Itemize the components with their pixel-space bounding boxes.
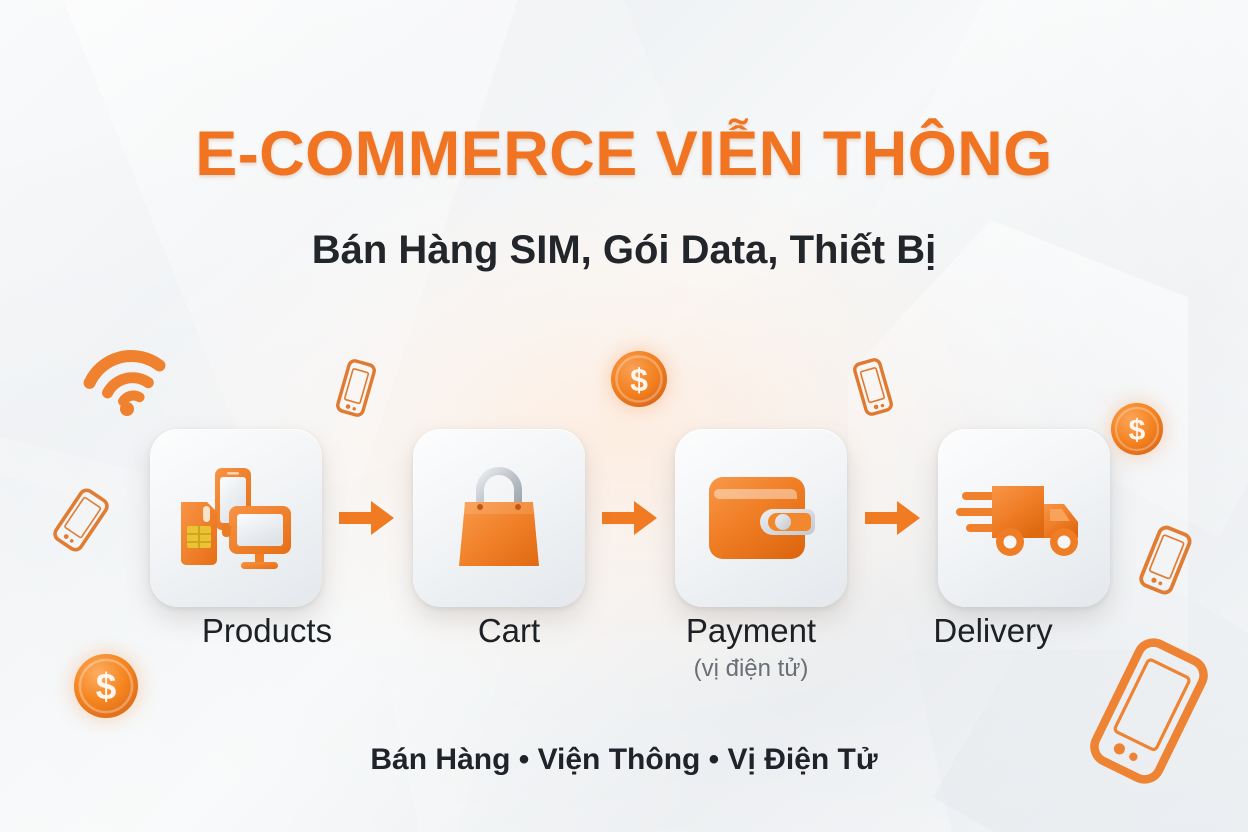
dollar-coin-icon: $ bbox=[608, 348, 670, 410]
svg-text:$: $ bbox=[1129, 414, 1146, 447]
delivery-truck-icon bbox=[960, 476, 1088, 560]
flow-label-cart: Cart bbox=[392, 612, 626, 722]
flow-sublabel-text: (vị điện tử) bbox=[634, 655, 868, 684]
svg-text:$: $ bbox=[96, 666, 117, 707]
flow-card-payment[interactable] bbox=[675, 429, 847, 607]
headline-block: E-COMMERCE VIỄN THÔNG Bán Hàng SIM, Gói … bbox=[0, 120, 1248, 272]
smartphone-outline-icon bbox=[334, 358, 378, 418]
flow-labels: Products Cart Payment (vị điện tử) Deliv… bbox=[150, 612, 1110, 722]
svg-text:$: $ bbox=[630, 362, 648, 398]
arrow-right-icon bbox=[862, 495, 924, 541]
flow-card-cart[interactable] bbox=[413, 429, 585, 607]
smartphone-outline-icon bbox=[1136, 524, 1194, 598]
flow-label-text: Payment bbox=[634, 612, 868, 651]
shopping-bag-icon bbox=[447, 460, 551, 576]
dollar-coin-icon: $ bbox=[70, 650, 142, 722]
smartphone-outline-icon bbox=[851, 357, 895, 417]
page-subtitle: Bán Hàng SIM, Gói Data, Thiết Bị bbox=[0, 228, 1248, 272]
smartphone-outline-icon bbox=[54, 486, 108, 554]
flow-label-text: Cart bbox=[392, 612, 626, 651]
arrow-right-icon bbox=[599, 495, 661, 541]
flow-label-products: Products bbox=[150, 612, 384, 722]
flow-label-text: Delivery bbox=[876, 612, 1110, 651]
poster-canvas: E-COMMERCE VIỄN THÔNG Bán Hàng SIM, Gói … bbox=[0, 0, 1248, 832]
wifi-icon bbox=[78, 330, 174, 416]
arrow-right-icon bbox=[336, 495, 398, 541]
flow-label-payment: Payment (vị điện tử) bbox=[634, 612, 868, 722]
page-title: E-COMMERCE VIỄN THÔNG bbox=[0, 120, 1248, 188]
wallet-icon bbox=[703, 469, 819, 567]
flow-card-products[interactable] bbox=[150, 429, 322, 607]
sim-devices-icon bbox=[175, 462, 297, 574]
dollar-coin-icon: $ bbox=[1108, 400, 1166, 458]
footer-tagline: Bán Hàng • Viện Thông • Vị Điện Tử bbox=[0, 743, 1248, 777]
flow-label-text: Products bbox=[150, 612, 384, 651]
flow-label-delivery: Delivery bbox=[876, 612, 1110, 722]
process-flow bbox=[150, 428, 1110, 608]
flow-card-delivery[interactable] bbox=[938, 429, 1110, 607]
